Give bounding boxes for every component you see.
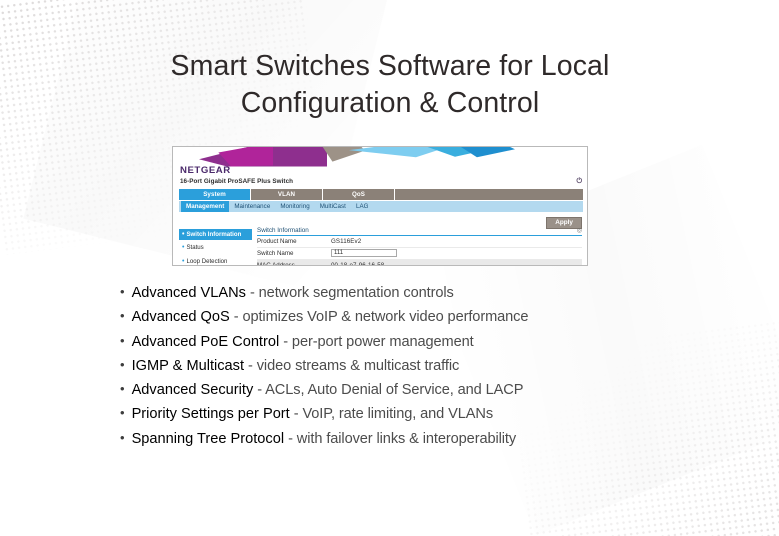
switch-model-label: 16-Port Gigabit ProSAFE Plus Switch	[180, 178, 293, 185]
feature-item: • Advanced VLANs - network segmentation …	[120, 284, 720, 303]
feature-description: - ACLs, Auto Denial of Service, and LACP	[257, 381, 523, 400]
bullet-icon: •	[120, 358, 125, 371]
feature-description: - with failover links & interoperability	[288, 430, 516, 449]
feature-description: - per-port power management	[283, 333, 473, 352]
field-label: Switch Name	[257, 250, 331, 257]
subtab-monitoring[interactable]: Monitoring	[275, 201, 314, 212]
bullet-icon: •	[120, 309, 125, 322]
power-icon[interactable]: ⏻	[576, 178, 582, 186]
feature-description: - VoIP, rate limiting, and VLANs	[294, 405, 493, 424]
bullet-icon: •	[120, 382, 125, 395]
feature-label: Advanced QoS	[132, 308, 230, 327]
feature-item: • Advanced QoS - optimizes VoIP & networ…	[120, 308, 720, 327]
tab-bar-filler	[395, 189, 583, 200]
slide-canvas: Smart Switches Software for Local Config…	[0, 0, 779, 536]
bullet-icon: •	[120, 406, 125, 419]
sidebar-item-label: Status	[186, 244, 203, 251]
field-value: GS116Ev2	[331, 238, 361, 245]
switch-information-panel: Switch Information ◎ Product Name GS116E…	[257, 227, 582, 266]
netgear-logo: NETGEAR	[180, 165, 231, 176]
feature-list: • Advanced VLANs - network segmentation …	[120, 284, 720, 454]
bullet-icon: •	[182, 231, 184, 238]
sidebar-item-label: Loop Detection	[186, 258, 227, 265]
screenshot-sidebar: • Switch Information • Status • Loop Det…	[179, 229, 252, 266]
sidebar-item-label: Switch Information	[186, 231, 241, 238]
bullet-icon: •	[120, 285, 125, 298]
collapse-icon[interactable]: ◎	[577, 227, 582, 234]
bullet-icon: •	[120, 334, 125, 347]
feature-item: • IGMP & Multicast - video streams & mul…	[120, 357, 720, 376]
feature-label: Advanced PoE Control	[132, 333, 280, 352]
tab-qos[interactable]: QoS	[323, 189, 395, 200]
field-value: 00-18-e7-96-16-58	[331, 262, 384, 266]
field-label: Product Name	[257, 238, 331, 245]
feature-description: - video streams & multicast traffic	[248, 357, 459, 376]
bullet-icon: •	[182, 244, 184, 251]
feature-label: Priority Settings per Port	[132, 405, 290, 424]
feature-item: • Advanced PoE Control - per-port power …	[120, 333, 720, 352]
sidebar-item-switch-information[interactable]: • Switch Information	[179, 229, 252, 240]
tab-system[interactable]: System	[179, 189, 251, 200]
feature-item: • Spanning Tree Protocol - with failover…	[120, 430, 720, 449]
subtab-management[interactable]: Management	[181, 201, 229, 212]
feature-label: Advanced Security	[132, 381, 254, 400]
sidebar-item-status[interactable]: • Status	[179, 242, 252, 253]
product-ui-screenshot: NETGEAR 16-Port Gigabit ProSAFE Plus Swi…	[172, 146, 588, 266]
feature-label: Spanning Tree Protocol	[132, 430, 285, 449]
subtab-maintenance[interactable]: Maintenance	[229, 201, 275, 212]
feature-label: Advanced VLANs	[132, 284, 246, 303]
feature-item: • Advanced Security - ACLs, Auto Denial …	[120, 381, 720, 400]
feature-item: • Priority Settings per Port - VoIP, rat…	[120, 405, 720, 424]
sidebar-item-loop-detection[interactable]: • Loop Detection	[179, 256, 252, 266]
bullet-icon: •	[120, 431, 125, 444]
netgear-banner-graphic	[173, 147, 587, 167]
tab-vlan[interactable]: VLAN	[251, 189, 323, 200]
primary-tab-bar: System VLAN QoS	[179, 189, 583, 200]
feature-description: - network segmentation controls	[250, 284, 454, 303]
bullet-icon: •	[182, 258, 184, 265]
subtab-lag[interactable]: LAG	[351, 201, 374, 212]
slide-headline: Smart Switches Software for Local Config…	[96, 48, 684, 122]
field-product-name: Product Name GS116Ev2	[257, 236, 582, 248]
field-switch-name: Switch Name 111	[257, 248, 582, 260]
switch-name-input[interactable]: 111	[331, 249, 397, 258]
panel-header: Switch Information ◎	[257, 227, 582, 236]
field-label: MAC Address	[257, 262, 331, 266]
feature-description: - optimizes VoIP & network video perform…	[234, 308, 529, 327]
subtab-multicast[interactable]: MultiCast	[315, 201, 351, 212]
field-mac-address: MAC Address 00-18-e7-96-16-58	[257, 260, 582, 266]
secondary-tab-bar: Management Maintenance Monitoring MultiC…	[179, 201, 583, 212]
panel-title: Switch Information	[257, 227, 309, 234]
feature-label: IGMP & Multicast	[132, 357, 244, 376]
